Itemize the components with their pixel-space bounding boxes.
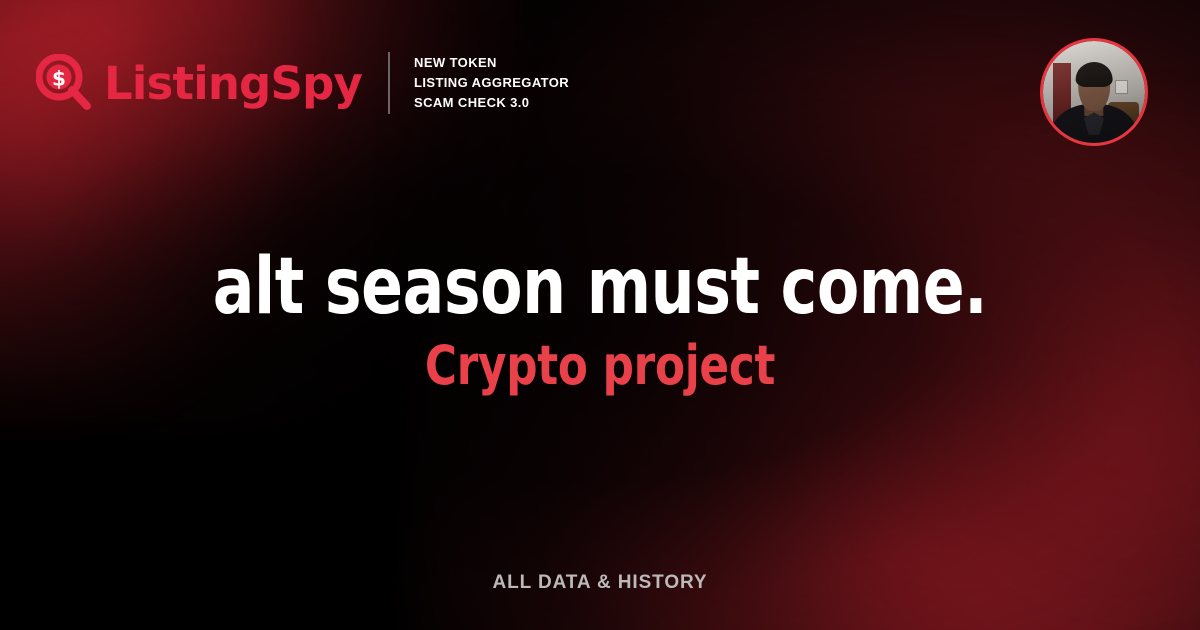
- page-title: alt season must come.: [72, 248, 1128, 326]
- promo-banner: $ ListingSpy NEW TOKEN LISTING AGGREGATO…: [0, 0, 1200, 630]
- footer: ALL DATA & HISTORY: [0, 572, 1200, 594]
- tagline-line-1: NEW TOKEN: [414, 53, 569, 73]
- avatar-photo: [1043, 41, 1145, 143]
- tagline-line-3: SCAM CHECK 3.0: [414, 93, 569, 113]
- brand-logo-lockup[interactable]: $ ListingSpy: [36, 54, 362, 112]
- magnifier-dollar-icon: $: [36, 54, 94, 112]
- footer-text: ALL DATA & HISTORY: [493, 572, 708, 593]
- avatar-shading-overlay: [1043, 41, 1145, 143]
- avatar[interactable]: [1040, 38, 1148, 146]
- brand-tagline: NEW TOKEN LISTING AGGREGATOR SCAM CHECK …: [414, 53, 569, 112]
- tagline-line-2: LISTING AGGREGATOR: [414, 73, 569, 93]
- header-divider: [388, 52, 390, 114]
- main-content: alt season must come. Crypto project: [0, 248, 1200, 395]
- page-subtitle: Crypto project: [60, 338, 1140, 395]
- brand-name: ListingSpy: [104, 61, 362, 106]
- brand-header: $ ListingSpy NEW TOKEN LISTING AGGREGATO…: [36, 52, 569, 114]
- svg-text:$: $: [52, 67, 66, 91]
